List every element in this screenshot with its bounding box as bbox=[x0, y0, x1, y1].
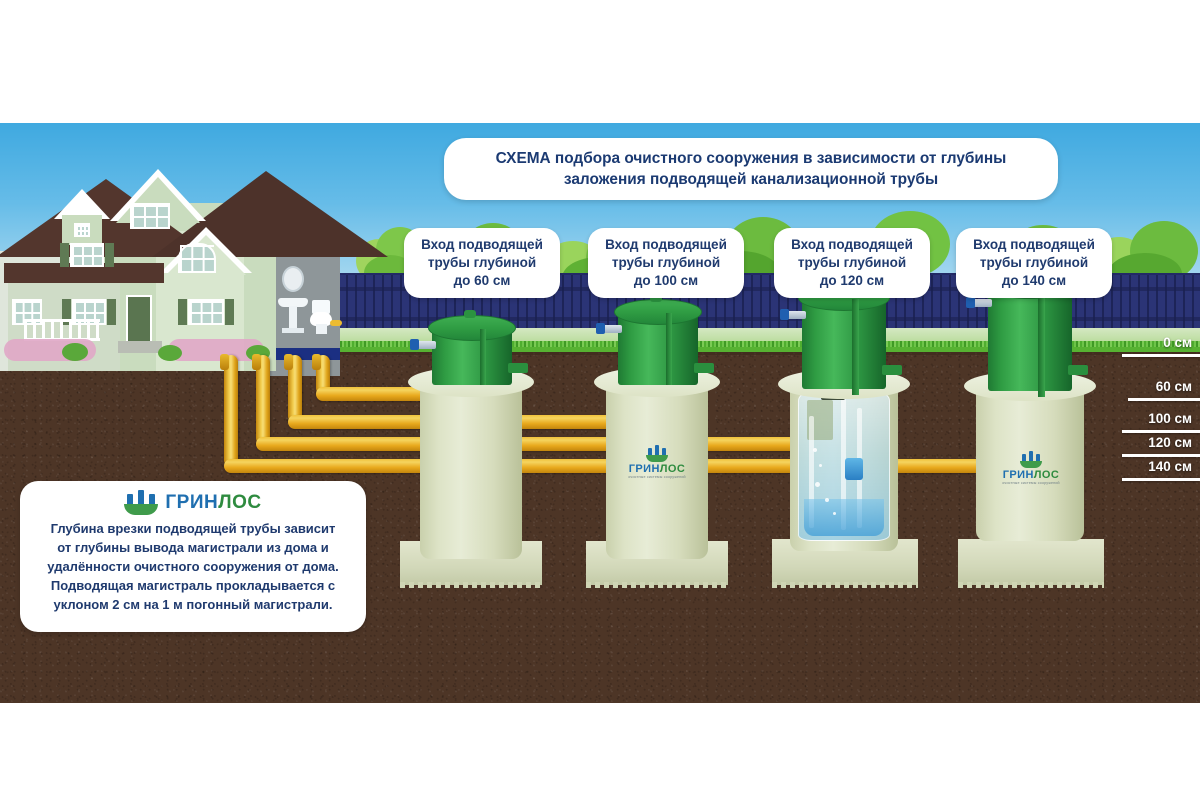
bathroom-cutaway bbox=[268, 248, 340, 376]
tank-3-bubble-3 bbox=[815, 482, 820, 487]
title-line-2: заложения подводящей канализационной тру… bbox=[564, 169, 938, 190]
tank-1-fin bbox=[480, 329, 486, 385]
window-upper-center bbox=[130, 203, 170, 229]
callout-100: Вход подводящей трубы глубиной до 100 см bbox=[588, 228, 744, 298]
tank-1-valve-handle bbox=[410, 339, 419, 350]
depth-line-140 bbox=[1122, 478, 1200, 481]
tank-1-lid-knob bbox=[464, 310, 476, 318]
window-lower-right bbox=[188, 299, 224, 325]
window-dormer bbox=[74, 223, 90, 237]
pipe-cap-4 bbox=[220, 354, 229, 370]
pipe-cap-3 bbox=[252, 354, 261, 370]
depth-label-100: 100 см bbox=[1148, 411, 1192, 426]
tank-2-logo-mark bbox=[646, 447, 668, 462]
shutter-upper-left-b bbox=[105, 243, 114, 267]
info-line-3: удалённости очистного сооружения от дома… bbox=[32, 557, 354, 576]
tank-2-logo-word: ГРИНЛОС bbox=[584, 463, 730, 475]
porch-steps bbox=[118, 341, 162, 353]
house bbox=[0, 143, 340, 355]
depth-line-0 bbox=[1122, 354, 1200, 357]
tank-1-body bbox=[420, 381, 522, 559]
info-line-1: Глубина врезки подводящей трубы зависит bbox=[32, 519, 354, 538]
mirror-icon bbox=[282, 266, 304, 292]
sink-foot bbox=[282, 328, 304, 333]
tank-2-outlet bbox=[694, 363, 714, 373]
porch-rail bbox=[24, 319, 100, 341]
tank-3-water bbox=[804, 499, 883, 536]
tank-3-fin bbox=[852, 299, 859, 395]
tank-4-base bbox=[958, 539, 1104, 585]
treatment-tank-4: ГРИНЛОС очистные системы сооружений bbox=[956, 273, 1106, 585]
tank-3-pump bbox=[845, 458, 863, 480]
tank-3-cutaway-window bbox=[798, 385, 890, 541]
depth-line-100 bbox=[1122, 430, 1200, 433]
info-box: ГРИНЛОС Глубина врезки подводящей трубы … bbox=[20, 481, 366, 632]
tank-2-fin bbox=[666, 313, 672, 385]
callout-140-line-2: трубы глубиной bbox=[980, 254, 1088, 272]
shutter-upper-left-a bbox=[60, 243, 69, 267]
tank-3-bubble-4 bbox=[825, 498, 829, 502]
title-banner: СХЕМА подбора очистного сооружения в зав… bbox=[444, 138, 1058, 200]
callout-100-line-1: Вход подводящей bbox=[605, 236, 727, 254]
info-line-2: от глубины вывода магистрали из дома и bbox=[32, 538, 354, 557]
treatment-tank-1 bbox=[398, 315, 544, 585]
tank-3-bubble-5 bbox=[833, 512, 836, 515]
pipe-cap-2 bbox=[284, 354, 293, 370]
treatment-tank-3 bbox=[770, 285, 920, 585]
infographic-stage: ГРИНЛОС очистные системы сооружений bbox=[0, 123, 1200, 703]
callout-120: Вход подводящей трубы глубиной до 120 см bbox=[774, 228, 930, 298]
shutter-porch-b bbox=[107, 299, 116, 325]
tank-4-logo-sub: очистные системы сооружений bbox=[956, 481, 1106, 485]
tank-2-brand-logo: ГРИНЛОС очистные системы сооружений bbox=[584, 447, 730, 479]
callout-140-line-3: до 140 см bbox=[1002, 272, 1066, 290]
tank-3-outlet bbox=[882, 365, 902, 375]
title-line-1: СХЕМА подбора очистного сооружения в зав… bbox=[496, 148, 1007, 169]
callout-100-line-2: трубы глубиной bbox=[612, 254, 720, 272]
toilet-outlet-pipe bbox=[330, 320, 342, 326]
tank-1-outlet bbox=[508, 363, 528, 373]
toilet-base-icon bbox=[316, 324, 327, 334]
tank-4-valve-handle bbox=[966, 297, 975, 308]
depth-label-120: 120 см bbox=[1148, 435, 1192, 450]
brand-logo: ГРИНЛОС bbox=[32, 490, 354, 515]
callout-100-line-3: до 100 см bbox=[634, 272, 698, 290]
tank-4-brand-logo: ГРИНЛОС очистные системы сооружений bbox=[956, 453, 1106, 485]
shutter-lower-right-a bbox=[178, 299, 187, 325]
depth-label-60: 60 см bbox=[1156, 379, 1192, 394]
info-text: Глубина врезки подводящей трубы зависит … bbox=[32, 519, 354, 615]
sink-pedestal bbox=[289, 306, 297, 330]
info-line-5: уклоном 2 см на 1 м погонный магистрали. bbox=[32, 595, 354, 614]
depth-label-140: 140 см bbox=[1148, 459, 1192, 474]
tank-2-lid bbox=[614, 299, 702, 325]
brand-name: ГРИНЛОС bbox=[165, 492, 261, 514]
callout-120-line-1: Вход подводящей bbox=[791, 236, 913, 254]
tank-2-valve-handle bbox=[596, 323, 605, 334]
callout-60: Вход подводящей трубы глубиной до 60 см bbox=[404, 228, 560, 298]
shutter-lower-right-b bbox=[225, 299, 234, 325]
depth-label-0: 0 см bbox=[1163, 335, 1192, 350]
greenlos-logo-icon bbox=[124, 490, 158, 515]
callout-120-line-3: до 120 см bbox=[820, 272, 884, 290]
tank-4-logo-word: ГРИНЛОС bbox=[956, 469, 1106, 481]
callout-120-line-2: трубы глубиной bbox=[798, 254, 906, 272]
callout-60-line-1: Вход подводящей bbox=[421, 236, 543, 254]
tank-3-bubble-1 bbox=[813, 448, 817, 452]
pipe-drop-4 bbox=[224, 355, 238, 467]
treatment-tank-2: ГРИНЛОС очистные системы сооружений bbox=[584, 299, 730, 585]
bush-b bbox=[158, 345, 182, 361]
window-upper-left bbox=[70, 243, 104, 267]
depth-line-120 bbox=[1122, 454, 1200, 457]
depth-line-60 bbox=[1128, 398, 1200, 401]
window-arched bbox=[178, 243, 216, 273]
tank-4-outlet bbox=[1068, 365, 1088, 375]
front-door bbox=[126, 295, 152, 345]
callout-140-line-1: Вход подводящей bbox=[973, 236, 1095, 254]
tank-3-valve-handle bbox=[780, 309, 789, 320]
tank-3-bubble-2 bbox=[819, 464, 822, 467]
callout-140: Вход подводящей трубы глубиной до 140 см bbox=[956, 228, 1112, 298]
depth-scale: 0 см 60 см 100 см 120 см 140 см bbox=[1120, 123, 1200, 523]
bush-a bbox=[62, 343, 88, 361]
tank-1-lid bbox=[428, 315, 516, 341]
tank-4-logo-mark bbox=[1020, 453, 1042, 468]
tank-4-riser bbox=[988, 285, 1072, 391]
callout-60-line-3: до 60 см bbox=[454, 272, 511, 290]
pipe-cap-1 bbox=[312, 354, 321, 370]
info-line-4: Подводящая магистраль прокладывается с bbox=[32, 576, 354, 595]
callout-60-line-2: трубы глубиной bbox=[428, 254, 536, 272]
tank-4-fin bbox=[1038, 287, 1045, 397]
tank-2-logo-sub: очистные системы сооружений bbox=[584, 475, 730, 479]
